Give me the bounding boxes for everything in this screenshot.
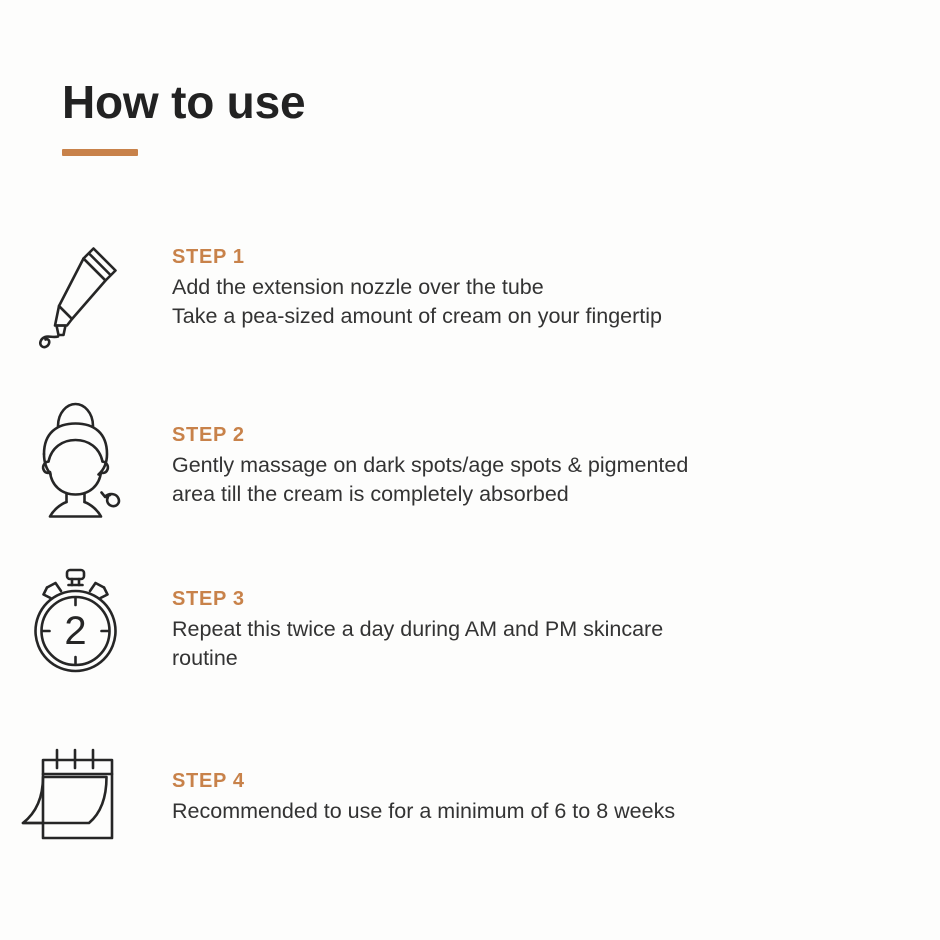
- title-underline-rule: [62, 149, 138, 156]
- how-to-use-panel: How to use: [0, 0, 940, 940]
- step-1-description: Add the extension nozzle over the tube T…: [172, 273, 662, 331]
- step-1-text: STEP 1 Add the extension nozzle over the…: [172, 238, 662, 331]
- cream-tube-icon: [15, 242, 135, 360]
- step-1-label: STEP 1: [172, 244, 662, 270]
- list-item: 2 STEP 3 Repeat this twice a day during …: [0, 556, 940, 732]
- list-item: STEP 1 Add the extension nozzle over the…: [0, 238, 940, 398]
- step-4-label: STEP 4: [172, 768, 675, 794]
- list-item: STEP 2 Gently massage on dark spots/age …: [0, 398, 940, 556]
- step-4-description: Recommended to use for a minimum of 6 to…: [172, 797, 675, 826]
- steps-list: STEP 1 Add the extension nozzle over the…: [0, 238, 940, 882]
- step-1-icon-wrap: [0, 238, 150, 360]
- step-3-text: STEP 3 Repeat this twice a day during AM…: [172, 556, 663, 673]
- step-4-icon-wrap: [0, 732, 150, 854]
- step-2-text: STEP 2 Gently massage on dark spots/age …: [172, 398, 688, 509]
- page-title: How to use: [62, 74, 305, 130]
- face-massage-icon: [15, 398, 135, 526]
- step-4-text: STEP 4 Recommended to use for a minimum …: [172, 732, 675, 826]
- step-2-description: Gently massage on dark spots/age spots &…: [172, 451, 688, 509]
- stopwatch-value: 2: [64, 609, 86, 653]
- list-item: STEP 4 Recommended to use for a minimum …: [0, 732, 940, 882]
- step-3-description: Repeat this twice a day during AM and PM…: [172, 615, 663, 673]
- stopwatch-icon: 2: [15, 564, 135, 682]
- step-3-icon-wrap: 2: [0, 556, 150, 682]
- heading-block: How to use: [62, 74, 305, 156]
- step-3-label: STEP 3: [172, 586, 663, 612]
- step-2-icon-wrap: [0, 398, 150, 526]
- step-2-label: STEP 2: [172, 422, 688, 448]
- calendar-icon: [15, 744, 135, 854]
